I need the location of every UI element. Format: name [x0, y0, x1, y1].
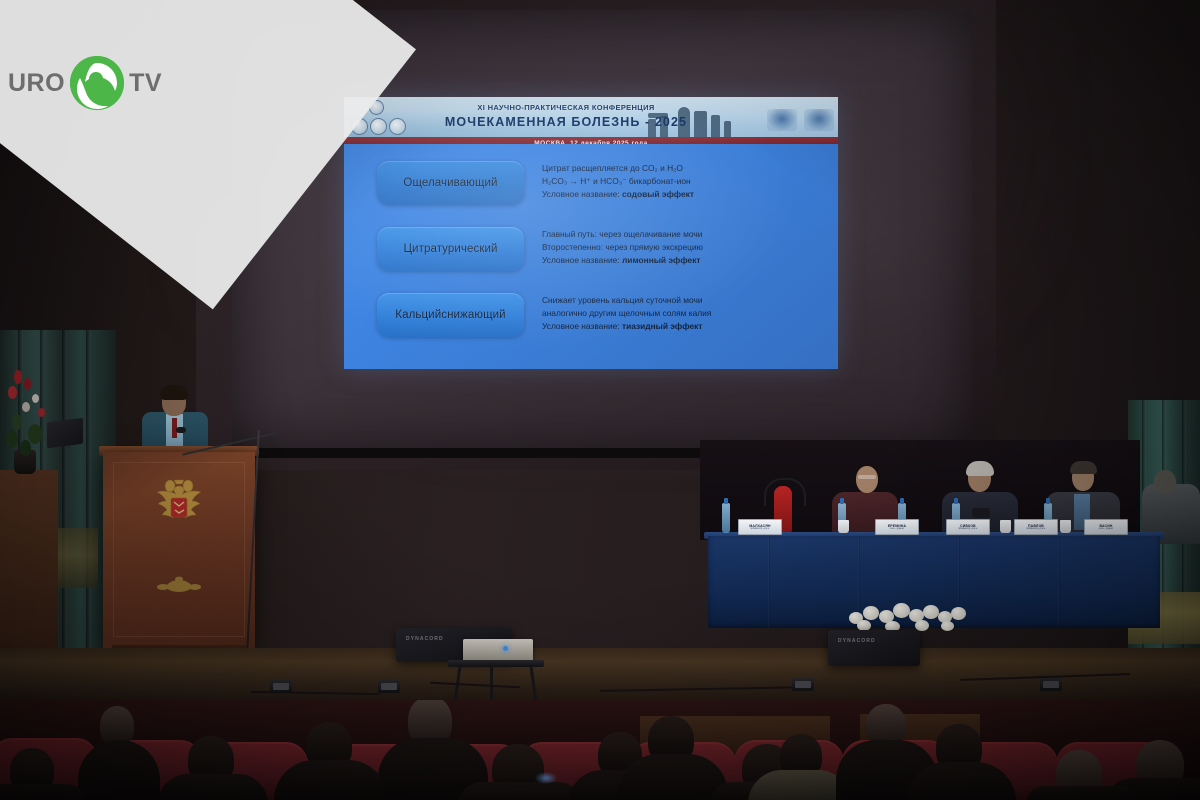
nameplate-role: профессор, д.м.н. — [1026, 528, 1045, 531]
stage-floor-light — [1040, 678, 1062, 691]
caption-label: Условное название: — [542, 321, 620, 331]
speaker-hair — [160, 385, 188, 400]
nameplate-role: профессор, д.м.н. — [750, 528, 769, 531]
caption-label: Условное название: — [542, 189, 620, 199]
panelist-glasses-icon — [858, 475, 876, 479]
slide-row-line: Второстепенно: через прямую экскрецию — [542, 241, 824, 254]
slide-conference-title: МОЧЕКАМЕННАЯ БОЛЕЗНЬ - 2025 — [416, 115, 716, 129]
projector-power-led-icon — [503, 646, 508, 651]
nameplate: МАЛХАСЯН профессор, д.м.н. — [738, 519, 782, 535]
nameplate-role: к.м.н., доцент — [890, 528, 905, 531]
audience-shoulders — [1026, 786, 1138, 800]
slide-rows: Ощелачивающий Цитрат расщепляется до CO₂… — [344, 155, 838, 353]
speaker-at-podium — [140, 388, 210, 454]
slide-row-line: Главный путь: через ощелачивание мочи — [542, 228, 824, 241]
stage-floor-light — [270, 680, 292, 693]
paper-cup — [1000, 520, 1011, 533]
audience-shoulders — [158, 774, 268, 800]
panelist-hair — [1070, 461, 1097, 474]
slide-row-pill-label: Ощелачивающий — [403, 177, 497, 189]
sponsor-logo-2 — [804, 109, 834, 131]
slide-row-pill-label: Кальцийснижающий — [395, 309, 505, 321]
slide-row-caption: Условное название: лимонный эффект — [542, 254, 824, 267]
slide-place-date: МОСКВА, 12 декабря 2025 года — [534, 140, 647, 145]
uro-tv-leaf-logo-icon — [70, 56, 124, 110]
audience-shoulders — [0, 784, 86, 800]
watermark-logo: URO TV — [8, 52, 184, 114]
slide-row-pill-label: Цитратурический — [403, 243, 497, 255]
slide-row: Ощелачивающий Цитрат расщепляется до CO₂… — [344, 155, 838, 221]
nameplate-role: к.м.н., доцент — [1099, 528, 1114, 531]
monitor-brand-label: DYNACORD — [838, 638, 876, 644]
conference-hall-photo: XI НАУЧНО-ПРАКТИЧЕСКАЯ КОНФЕРЕНЦИЯ МОЧЕК… — [0, 0, 1200, 800]
caption-value: лимонный эффект — [622, 255, 701, 265]
slide-row-caption: Условное название: содовый эффект — [542, 188, 824, 201]
audience-phone-screen-glow — [535, 772, 557, 784]
panelist-head — [1154, 470, 1176, 494]
speaking-podium — [103, 452, 255, 649]
slide-row-text: Главный путь: через ощелачивание мочи Вт… — [542, 228, 824, 268]
side-table-left — [0, 470, 58, 650]
nameplate: ЕРЕМИНА к.м.н., доцент — [875, 519, 919, 535]
slide-row-pill: Ощелачивающий — [377, 161, 524, 205]
caption-label: Условное название: — [542, 255, 620, 265]
nameplate: СИВКОВ профессор, д.м.н. — [946, 519, 990, 535]
slide-row: Кальцийснижающий Снижает уровень кальция… — [344, 287, 838, 353]
audience-shoulders — [458, 782, 582, 800]
stage-floor-light — [378, 680, 400, 693]
nameplate: ПАВЛОВ профессор, д.м.н. — [1014, 519, 1058, 535]
watermark-text-left: URO — [8, 69, 65, 98]
slide-header-banner: XI НАУЧНО-ПРАКТИЧЕСКАЯ КОНФЕРЕНЦИЯ МОЧЕК… — [344, 97, 838, 144]
panelist-head — [856, 466, 878, 493]
slide-row-pill: Цитратурический — [377, 227, 524, 271]
panelist-phone-icon — [972, 508, 990, 518]
slide-row-text: Цитрат расщепляется до CO₂ и H₂O H₂CO₃ →… — [542, 162, 824, 202]
slide-row: Цитратурический Главный путь: через ощел… — [344, 221, 838, 287]
presentation-slide: XI НАУЧНО-ПРАКТИЧЕСКАЯ КОНФЕРЕНЦИЯ МОЧЕК… — [344, 97, 838, 369]
russian-coat-of-arms-icon — [148, 478, 210, 530]
slide-row-line: H₂CO₃ → H⁺ и HCO₃⁻ бикарбонат-ион — [542, 175, 824, 188]
water-bottle — [722, 503, 730, 533]
slide-row-line: аналогично другим щелочным солям калия — [542, 307, 824, 320]
microphone-icon — [176, 427, 186, 433]
slide-row-line: Цитрат расщепляется до CO₂ и H₂O — [542, 162, 824, 175]
video-projector — [463, 639, 533, 662]
stage-monitor-speaker: DYNACORD — [828, 630, 920, 666]
caption-value: тиазидный эффект — [622, 321, 702, 331]
podium-laptop — [47, 418, 83, 448]
audience-area — [0, 700, 1200, 800]
fire-extinguisher-bracket — [764, 478, 806, 506]
watermark-text-right: TV — [129, 69, 162, 98]
podium-laurel-ornament-icon — [155, 576, 203, 596]
panelist — [1142, 452, 1200, 544]
sponsor-logo-1 — [767, 109, 797, 131]
slide-header-red-bar: МОСКВА, 12 декабря 2025 года — [344, 137, 838, 144]
monitor-brand-label: DYNACORD — [406, 636, 444, 642]
white-flower-arrangement — [845, 600, 975, 632]
slide-conference-line: XI НАУЧНО-ПРАКТИЧЕСКАЯ КОНФЕРЕНЦИЯ — [416, 103, 716, 112]
nameplate-role: профессор, д.м.н. — [958, 528, 977, 531]
paper-cup — [838, 520, 849, 533]
slide-row-text: Снижает уровень кальция суточной мочи ан… — [542, 294, 824, 334]
slide-row-pill: Кальцийснижающий — [377, 293, 524, 337]
caption-value: содовый эффект — [622, 189, 694, 199]
projector-stand — [448, 660, 544, 700]
slide-row-line: Снижает уровень кальция суточной мочи — [542, 294, 824, 307]
slide-row-caption: Условное название: тиазидный эффект — [542, 320, 824, 333]
nameplate: ВАСИН к.м.н., доцент — [1084, 519, 1128, 535]
header-sponsor-logos — [756, 103, 834, 137]
stage-floor-light — [792, 678, 814, 691]
paper-cup — [1060, 520, 1071, 533]
panelist-hair — [966, 461, 994, 476]
